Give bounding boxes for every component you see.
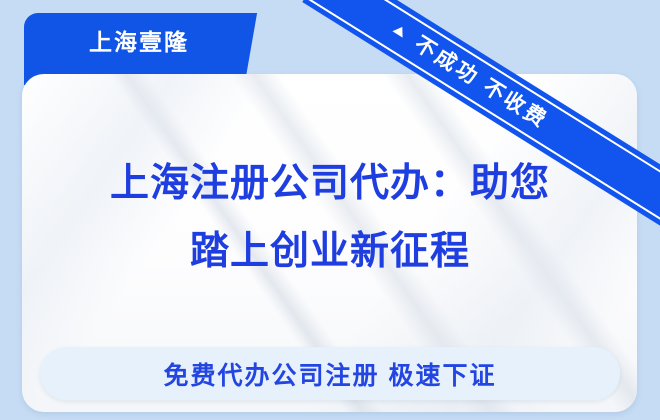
headline-line-1: 上海注册公司代办：助您	[46, 150, 614, 218]
promo-banner: 上海壹隆 上海注册公司代办：助您 踏上创业新征程 免费代办公司注册 极速下证 不…	[0, 0, 660, 420]
cta-pill-label: 免费代办公司注册 极速下证	[164, 356, 497, 392]
brand-tab-label: 上海壹隆	[64, 27, 214, 57]
triangle-up-icon	[392, 24, 407, 38]
headline: 上海注册公司代办：助您 踏上创业新征程	[46, 150, 614, 286]
cta-pill[interactable]: 免费代办公司注册 极速下证	[40, 347, 620, 400]
headline-line-2: 踏上创业新征程	[46, 218, 614, 286]
